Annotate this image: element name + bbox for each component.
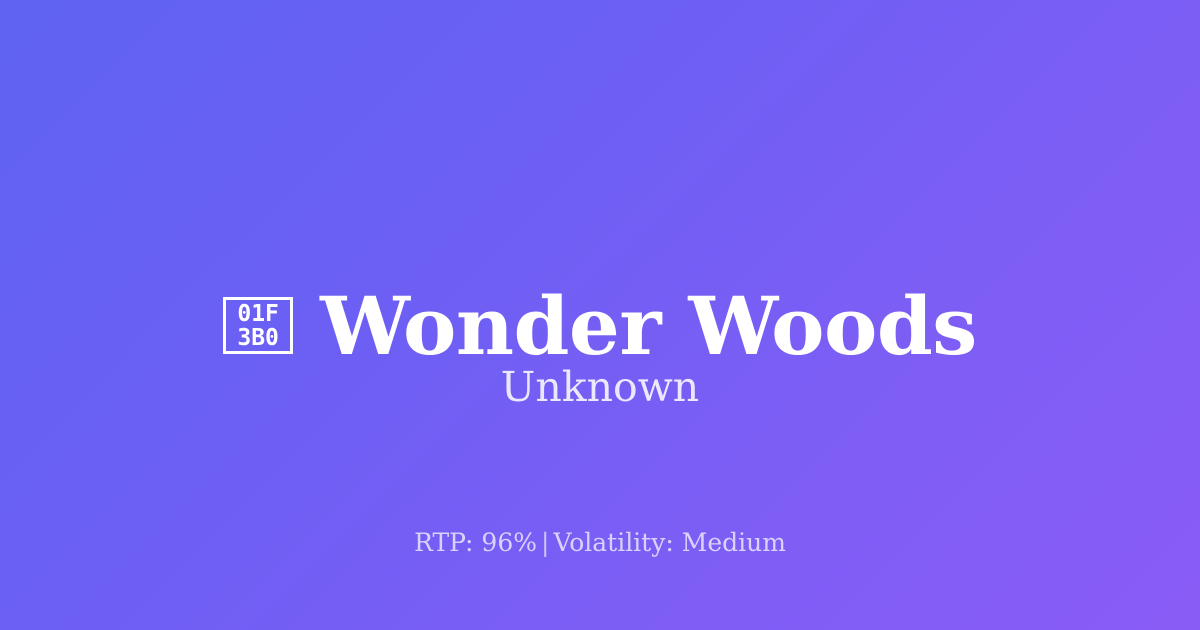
game-title: Wonder Woods (320, 282, 977, 370)
tofu-codepoint-top: 01F (237, 302, 279, 326)
tofu-codepoint-bottom: 3B0 (237, 326, 279, 350)
volatility-value: Volatility: Medium (553, 528, 785, 557)
provider-label: Unknown (0, 362, 1200, 412)
rtp-value: RTP: 96% (414, 528, 537, 557)
slot-machine-emoji-icon: 01F 3B0 (223, 297, 293, 354)
stats-separator: | (537, 528, 553, 557)
game-share-card: 01F 3B0 Wonder Woods Unknown RTP: 96%|Vo… (0, 0, 1200, 630)
game-stats-line: RTP: 96%|Volatility: Medium (0, 527, 1200, 559)
